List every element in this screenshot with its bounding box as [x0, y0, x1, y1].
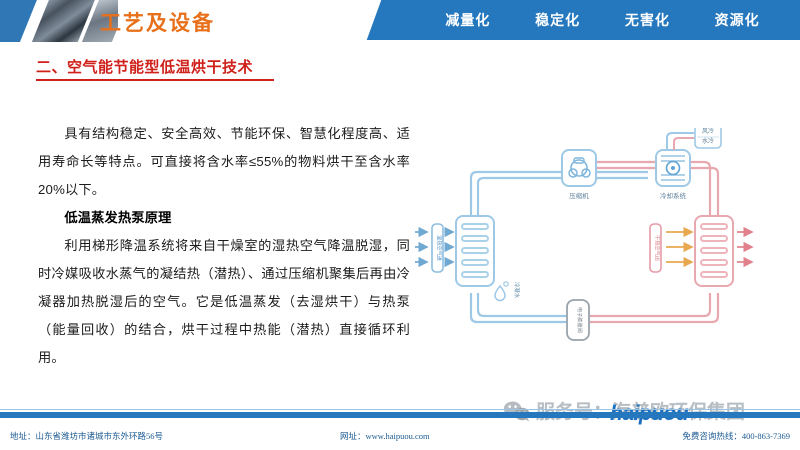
- body-text-column: 具有结构稳定、安全高效、节能环保、智慧化程度高、适用寿命长等特点。可直接将含水率…: [38, 120, 410, 372]
- header-nav-band: 减量化 稳定化 无害化 资源化: [389, 0, 800, 40]
- node-condenser: [695, 216, 733, 286]
- wechat-icon: [502, 400, 532, 422]
- node-cooling-system: 冷却系统: [656, 150, 690, 200]
- svg-text:湿热空气进: 湿热空气进: [436, 235, 444, 261]
- node-expansion-valve: 电子膨胀阀: [567, 300, 589, 340]
- section-heading: 二、空气能节能型低温烘干技术: [36, 56, 253, 77]
- footer-divider: [0, 412, 800, 418]
- paragraph-features: 具有结构稳定、安全高效、节能环保、智慧化程度高、适用寿命长等特点。可直接将含水率…: [38, 120, 410, 204]
- subheading-principle: 低温蒸发热泵原理: [38, 204, 410, 232]
- svg-text:冷凝水: 冷凝水: [513, 282, 521, 299]
- nav-item-ziyuan[interactable]: 资源化: [715, 10, 760, 30]
- page-title: 工艺及设备: [100, 7, 215, 37]
- node-outlet-air: 干热空气出: [650, 224, 662, 272]
- svg-text:风冷: 风冷: [702, 128, 714, 135]
- watermark: 服务号：海普欧环保集团 haipuou: [500, 396, 800, 426]
- slide-header: 工艺及设备 减量化 稳定化 无害化 资源化: [0, 0, 800, 42]
- footer-website[interactable]: 网址：www.haipuou.com: [340, 430, 430, 442]
- node-compressor: 压缩机: [562, 150, 596, 200]
- svg-text:水冷: 水冷: [702, 137, 714, 145]
- nav-item-wuhai[interactable]: 无害化: [625, 10, 670, 30]
- svg-text:干热空气出: 干热空气出: [654, 235, 662, 261]
- heat-pump-diagram: 湿热空气进 冷凝水: [412, 128, 798, 348]
- nav-item-wending[interactable]: 稳定化: [535, 10, 580, 30]
- footer: 地址：山东省潍坊市诸城市东外环路56号 网址：www.haipuou.com 免…: [0, 428, 800, 448]
- node-evaporator: [456, 216, 494, 286]
- section-heading-underline: [36, 79, 274, 81]
- slide-root: 工艺及设备 减量化 稳定化 无害化 资源化 二、空气能节能型低温烘干技术 具有结…: [0, 0, 800, 450]
- section-heading-text: 二、空气能节能型低温烘干技术: [36, 56, 253, 77]
- node-inlet-air: 湿热空气进: [432, 224, 444, 272]
- footer-hotline: 免费咨询热线：400-863-7369: [682, 430, 790, 442]
- footer-address: 地址：山东省潍坊市诸城市东外环路56号: [10, 430, 163, 442]
- footer-divider-thin: [0, 409, 800, 410]
- nav-item-jianliang[interactable]: 减量化: [445, 10, 490, 30]
- svg-text:冷却系统: 冷却系统: [660, 191, 687, 200]
- watermark-service-text: 服务号：海普欧环保集团: [536, 397, 745, 424]
- svg-text:电子膨胀阀: 电子膨胀阀: [576, 307, 584, 333]
- paragraph-principle: 利用梯形降温系统将来自干燥室的湿热空气降温脱湿，同时冷媒吸收水蒸气的凝结热（潜热…: [38, 232, 410, 372]
- node-condensate-water: 冷凝水: [495, 282, 521, 301]
- svg-text:压缩机: 压缩机: [569, 191, 589, 200]
- node-air-water-cooled: 风冷 水冷: [695, 128, 721, 148]
